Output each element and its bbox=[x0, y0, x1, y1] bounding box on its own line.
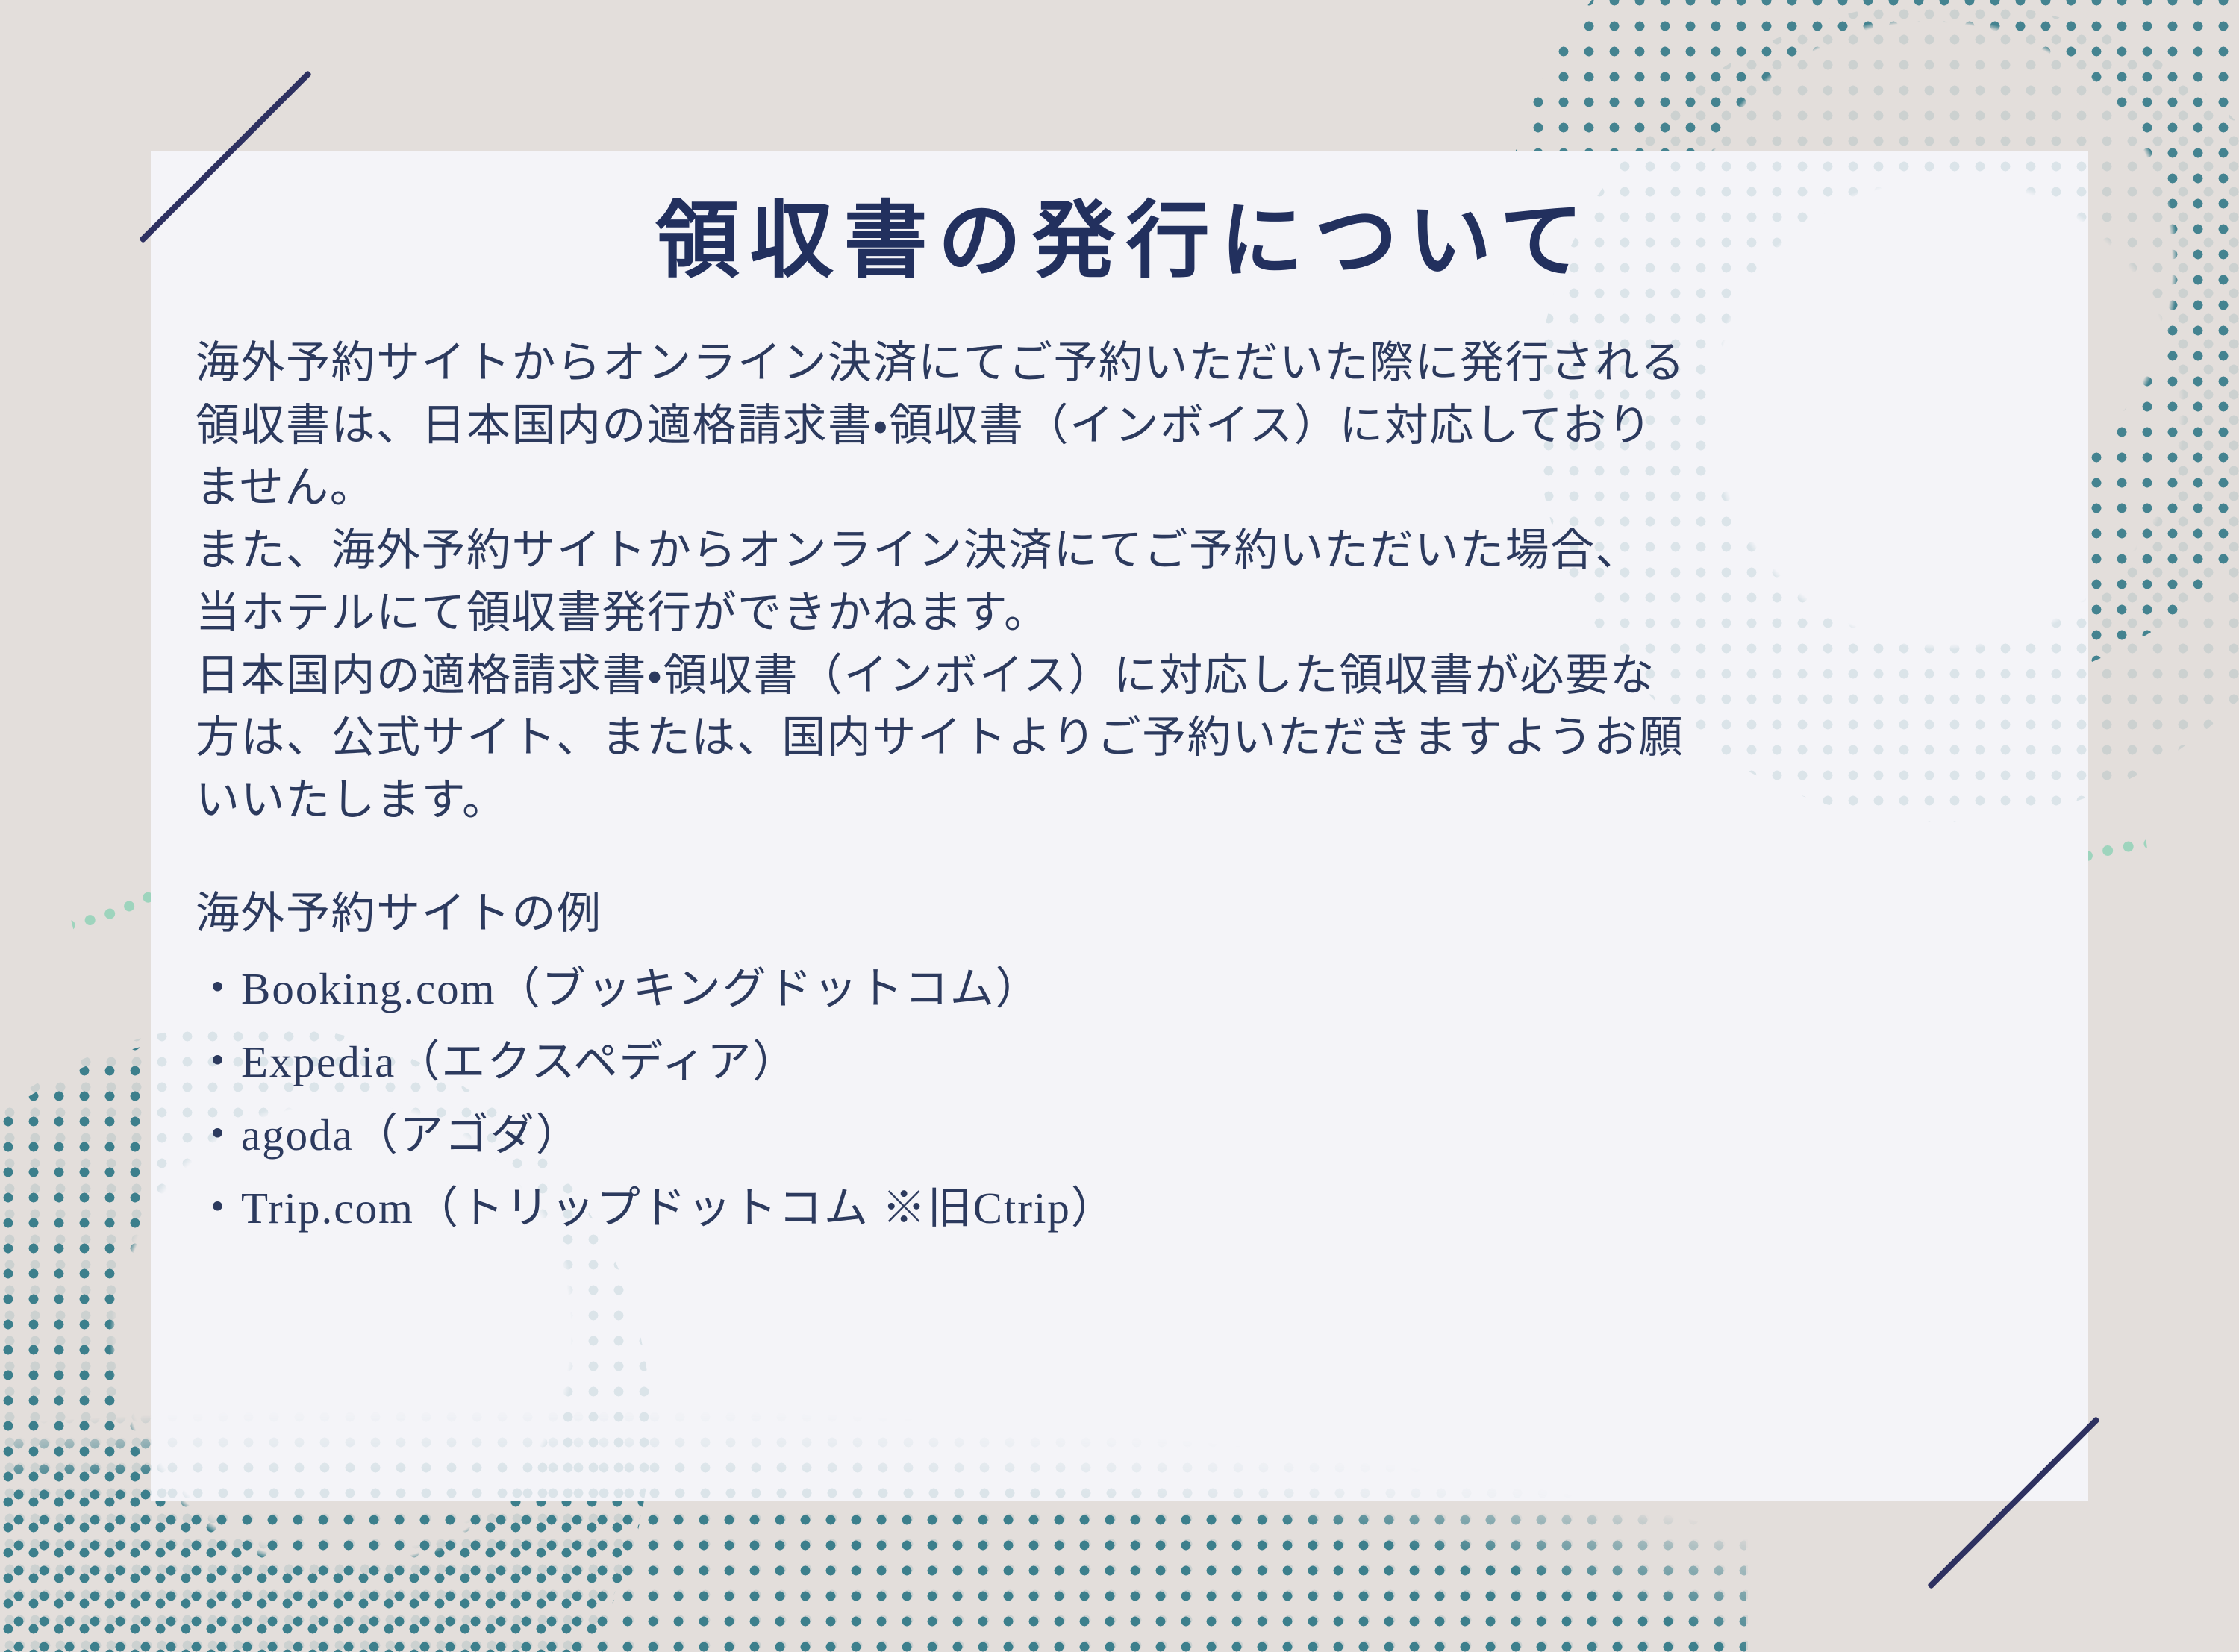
list-item: ・Expedia（エクスペディア） bbox=[196, 1026, 2043, 1099]
card-halftone-band-bottom-icon bbox=[0, 1277, 1748, 1652]
body-line: 海外予約サイトからオンライン決済にてご予約いただいた際に発行される bbox=[196, 332, 2043, 395]
body-line: 領収書は、日本国内の適格請求書・領収書（インボイス）に対応しており bbox=[196, 395, 2043, 457]
body-paragraph: また、海外予約サイトからオンライン決済にてご予約いただいた場合、 当ホテルにて領… bbox=[196, 519, 2043, 645]
list-item: ・agoda（アゴダ） bbox=[196, 1099, 2043, 1172]
list-item: ・Booking.com（ブッキングドットコム） bbox=[196, 953, 2043, 1026]
body-line: 当ホテルにて領収書発行ができかねます。 bbox=[196, 582, 2043, 645]
examples-section: 海外予約サイトの例 ・Booking.com（ブッキングドットコム） ・Expe… bbox=[151, 832, 2088, 1245]
body-paragraph: 海外予約サイトからオンライン決済にてご予約いただいた際に発行される 領収書は、日… bbox=[196, 332, 2043, 519]
examples-list: ・Booking.com（ブッキングドットコム） ・Expedia（エクスペディ… bbox=[196, 953, 2043, 1245]
body-paragraph: 日本国内の適格請求書・領収書（インボイス）に対応した領収書が必要な 方は、公式サ… bbox=[196, 645, 2043, 832]
body-line: 方は、公式サイト、または、国内サイトよりご予約いただきますようお願 bbox=[196, 707, 2043, 769]
body-line: また、海外予約サイトからオンライン決済にてご予約いただいた場合、 bbox=[196, 519, 2043, 582]
examples-heading: 海外予約サイトの例 bbox=[196, 883, 2043, 945]
slide-canvas: 領収書の発行について 海外予約サイトからオンライン決済にてご予約いただいた際に発… bbox=[0, 0, 2239, 1652]
page-title: 領収書の発行について bbox=[151, 151, 2088, 290]
content-card: 領収書の発行について 海外予約サイトからオンライン決済にてご予約いただいた際に発… bbox=[151, 151, 2088, 1501]
card-content: 領収書の発行について 海外予約サイトからオンライン決済にてご予約いただいた際に発… bbox=[151, 151, 2088, 1245]
body-line: 日本国内の適格請求書・領収書（インボイス）に対応した領収書が必要な bbox=[196, 645, 2043, 707]
list-item: ・Trip.com（トリップドットコム ※旧Ctrip） bbox=[196, 1172, 2043, 1245]
body-line: ません。 bbox=[196, 457, 2043, 519]
body-text: 海外予約サイトからオンライン決済にてご予約いただいた際に発行される 領収書は、日… bbox=[151, 290, 2088, 832]
body-line: いいたします。 bbox=[196, 769, 2043, 832]
